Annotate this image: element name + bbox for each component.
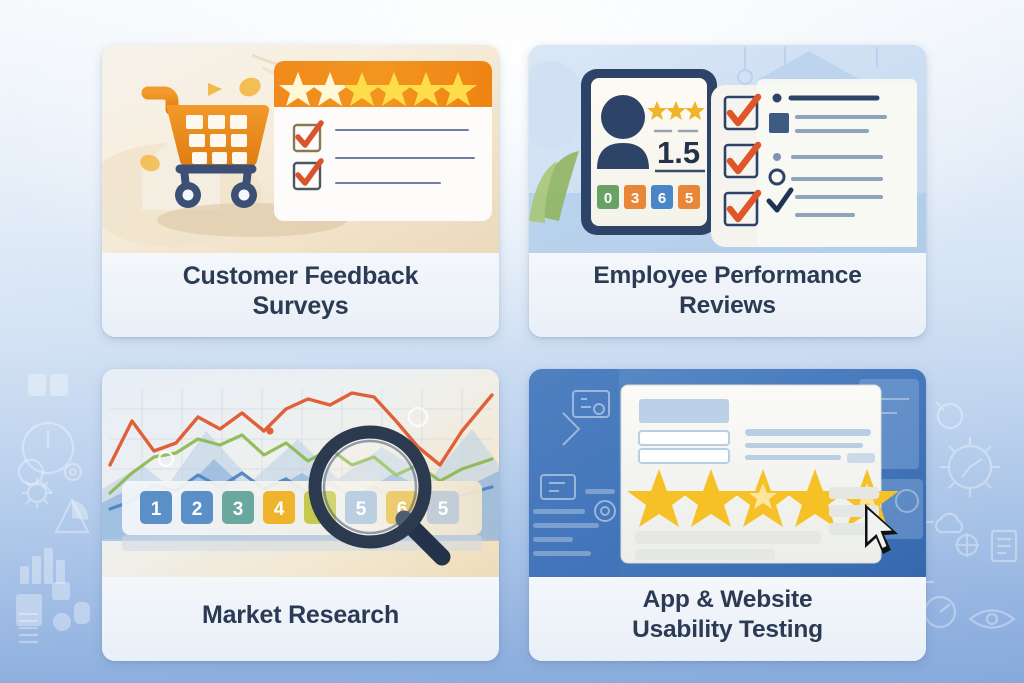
svg-text:1: 1 — [151, 499, 162, 520]
tiles-icon — [26, 372, 92, 400]
report-icon — [988, 528, 1020, 564]
illustration-browser-window-with-five-star-rating-and-cursor — [529, 369, 926, 577]
card-customer-feedback-surveys[interactable]: Customer Feedback Surveys — [102, 45, 499, 337]
svg-text:1.5: 1.5 — [657, 135, 700, 170]
svg-text:5: 5 — [685, 190, 693, 207]
eye-icon — [968, 604, 1016, 634]
squares-icon — [48, 578, 94, 640]
svg-text:3: 3 — [233, 499, 244, 520]
illustration-shopping-cart-with-star-rating-survey — [102, 45, 499, 253]
card-employee-performance-reviews[interactable]: 1.5 0 3 6 5 — [529, 45, 926, 337]
caption-line-1: Market Research — [202, 601, 399, 629]
svg-text:2: 2 — [192, 499, 203, 520]
caption-line-1: Employee Performance — [593, 262, 861, 289]
list-icon — [16, 608, 42, 648]
target-crosshair-icon — [952, 530, 982, 560]
caption-line-1: App & Website — [643, 586, 813, 613]
caption-line-2: Reviews — [679, 292, 776, 319]
caption-line-2: Surveys — [253, 292, 349, 320]
triangle-icon — [52, 492, 92, 538]
badge-icon — [930, 396, 970, 436]
illustration-line-chart-with-magnifier-and-number-tiles: 1 2 3 4 5 5 6 5 — [102, 369, 499, 577]
card-caption: Market Research — [102, 577, 499, 661]
svg-text:3: 3 — [631, 190, 639, 207]
caption-line-1: Customer Feedback — [183, 262, 419, 290]
card-caption: App & Website Usability Testing — [529, 577, 926, 661]
caption-line-2: Usability Testing — [632, 616, 823, 643]
card-caption: Employee Performance Reviews — [529, 253, 926, 337]
card-market-research[interactable]: 1 2 3 4 5 5 6 5 — [102, 369, 499, 661]
svg-text:6: 6 — [658, 190, 666, 207]
svg-text:0: 0 — [604, 190, 612, 207]
target-icon — [62, 461, 84, 483]
card-app-website-usability-testing[interactable]: App & Website Usability Testing — [529, 369, 926, 661]
illustration-employee-id-badge-with-review-checklist: 1.5 0 3 6 5 — [529, 45, 926, 253]
sun-chart-icon — [938, 435, 1002, 499]
card-grid: Customer Feedback Surveys — [102, 45, 926, 661]
svg-text:5: 5 — [438, 499, 449, 520]
gear-icon — [20, 476, 54, 510]
svg-text:4: 4 — [274, 499, 285, 520]
card-caption: Customer Feedback Surveys — [102, 253, 499, 337]
